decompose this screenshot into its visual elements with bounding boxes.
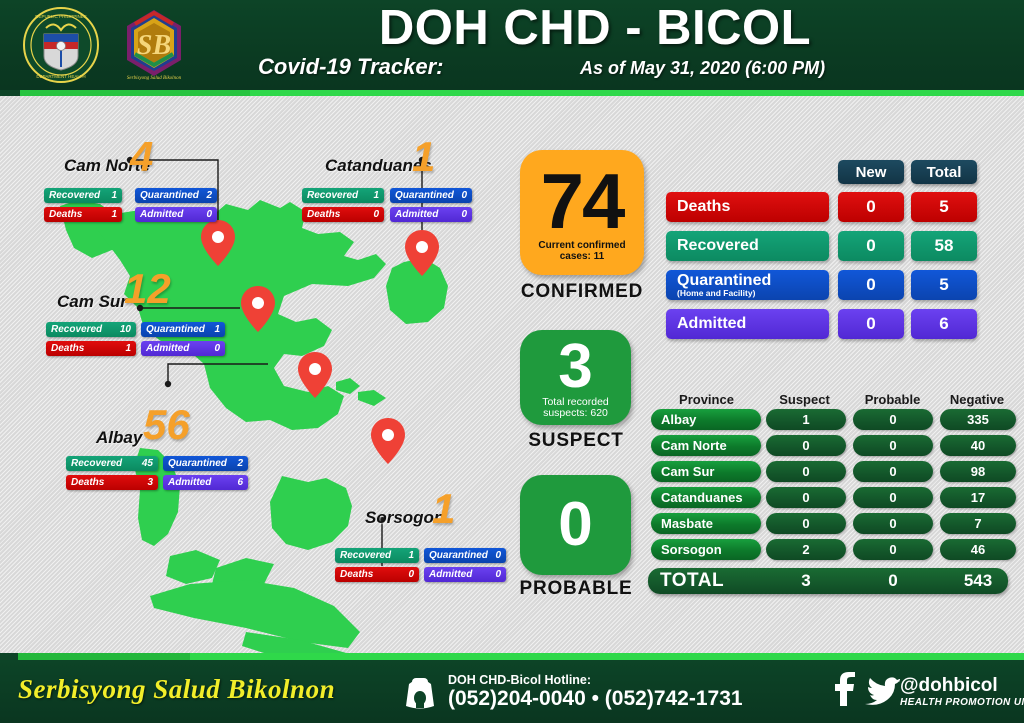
infographic-root: REPUBLIC PHILIPPINES DEPARTMENT HEALTH S… (0, 0, 1024, 723)
row-probable: 0 (853, 461, 933, 482)
suspect-caption: SUSPECT (501, 430, 651, 452)
row-probable: 0 (853, 539, 933, 560)
chip-recovered: Recovered1 (335, 548, 419, 563)
total-probable: 0 (853, 568, 933, 594)
footer-divider (0, 653, 1024, 660)
telephone-icon (403, 674, 437, 710)
probable-count: 0 (558, 495, 592, 555)
bicol-region-map: Cam Norte 4 Recovered1 Deaths1 Quarantin… (0, 96, 505, 653)
twitter-icon[interactable] (860, 676, 900, 706)
row-negative: 335 (940, 409, 1016, 430)
chip-recovered: Recovered1 (302, 188, 384, 203)
chip-admitted: Admitted0 (424, 567, 506, 582)
summary-total-admitted: 6 (911, 309, 977, 339)
row-province-name: Catanduanes (651, 487, 761, 508)
row-negative: 46 (940, 539, 1016, 560)
row-province-name: Cam Norte (651, 435, 761, 456)
header-province: Province (654, 392, 759, 407)
row-province-name: Cam Sur (651, 461, 761, 482)
summary-label-recovered: Recovered (666, 231, 829, 261)
row-negative: 17 (940, 487, 1016, 508)
row-probable: 0 (853, 513, 933, 534)
row-probable: 0 (853, 409, 933, 430)
summary-total-recovered: 58 (911, 231, 977, 261)
province-label: Cam Sur (57, 292, 127, 312)
page-title: DOH CHD - BICOL (255, 2, 935, 54)
summary-new-admitted: 0 (838, 309, 904, 339)
chip-quarantined: Quarantined1 (141, 322, 225, 337)
chip-deaths: Deaths0 (302, 207, 384, 222)
row-probable: 0 (853, 435, 933, 456)
total-suspect: 3 (766, 568, 846, 594)
chip-admitted: Admitted6 (163, 475, 248, 490)
footer-slogan: Serbisyong Salud Bikolnon (18, 674, 335, 705)
probable-caption: PROBABLE (501, 578, 651, 600)
chip-admitted: Admitted0 (141, 341, 225, 356)
hotline-label: DOH CHD-Bicol Hotline: (448, 673, 591, 687)
suspect-note: Total recorded suspects: 620 (542, 397, 609, 419)
social-handle-text[interactable]: @dohbicol (900, 675, 998, 697)
header-suspect: Suspect (762, 392, 847, 407)
as-of-date: As of May 31, 2020 (6:00 PM) (580, 58, 825, 79)
province-case-count: 1 (432, 488, 455, 530)
summary-new-deaths: 0 (838, 192, 904, 222)
confirmed-caption: CONFIRMED (507, 281, 657, 303)
total-negative: 543 (940, 568, 1016, 594)
chip-quarantined: Quarantined0 (424, 548, 506, 563)
chip-admitted: Admitted0 (390, 207, 472, 222)
ssb-seal-logo-icon: SB Serbisyong Salud Bikolnon (115, 6, 193, 84)
summary-label-admitted: Admitted (666, 309, 829, 339)
province-case-count: 12 (124, 268, 171, 310)
doh-seal-logo-icon: REPUBLIC PHILIPPINES DEPARTMENT HEALTH (22, 6, 100, 84)
social-handles: @dohbicol HEALTH PROMOTION UNIT (832, 672, 1012, 716)
row-probable: 0 (853, 487, 933, 508)
confirmed-note: Current confirmed cases: 11 (538, 240, 625, 262)
row-province-name: Masbate (651, 513, 761, 534)
row-suspect: 2 (766, 539, 846, 560)
table-row: Catanduanes 0 0 17 (648, 487, 1008, 513)
hotline-numbers[interactable]: (052)204-0040 • (052)742-1731 (448, 687, 743, 711)
row-negative: 98 (940, 461, 1016, 482)
province-table-header-row: Province Suspect Probable Negative (648, 392, 1008, 409)
chip-quarantined: Quarantined2 (163, 456, 248, 471)
chip-admitted: Admitted0 (135, 207, 217, 222)
chip-deaths: Deaths1 (44, 207, 122, 222)
row-province-name: Sorsogon (651, 539, 761, 560)
chip-quarantined: Quarantined0 (390, 188, 472, 203)
row-negative: 7 (940, 513, 1016, 534)
header-probable: Probable (850, 392, 935, 407)
summary-total-deaths: 5 (911, 192, 977, 222)
summary-label-quarantined: Quarantined (Home and Facility) (666, 270, 829, 300)
province-breakdown-table: Province Suspect Probable Negative Albay… (648, 392, 1008, 594)
row-suspect: 0 (766, 461, 846, 482)
province-case-count: 4 (130, 136, 153, 178)
facebook-icon[interactable] (832, 672, 856, 706)
table-row: Cam Sur 0 0 98 (648, 461, 1008, 487)
summary-label-deaths: Deaths (666, 192, 829, 222)
province-case-count: 56 (143, 404, 190, 446)
probable-cases-badge: 0 (520, 475, 631, 575)
header-negative: Negative (938, 392, 1016, 407)
province-label: Albay (96, 428, 142, 448)
footer-banner: Serbisyong Salud Bikolnon DOH CHD-Bicol … (0, 660, 1024, 723)
svg-text:Serbisyong Salud Bikolnon: Serbisyong Salud Bikolnon (127, 76, 182, 81)
svg-text:DEPARTMENT HEALTH: DEPARTMENT HEALTH (36, 74, 85, 79)
total-label: TOTAL (660, 568, 724, 594)
province-case-count: 1 (412, 136, 435, 178)
row-suspect: 0 (766, 435, 846, 456)
row-negative: 40 (940, 435, 1016, 456)
chip-recovered: Recovered1 (44, 188, 122, 203)
suspect-cases-badge: 3 Total recorded suspects: 620 (520, 330, 631, 425)
page-subtitle: Covid-19 Tracker: (258, 54, 443, 80)
confirmed-cases-badge: 74 Current confirmed cases: 11 (520, 150, 644, 275)
table-row: Albay 1 0 335 (648, 409, 1008, 435)
summary-total-quarantined: 5 (911, 270, 977, 300)
svg-text:SB: SB (137, 30, 171, 61)
svg-text:REPUBLIC PHILIPPINES: REPUBLIC PHILIPPINES (35, 14, 87, 19)
row-suspect: 0 (766, 487, 846, 508)
table-row: Sorsogon 2 0 46 (648, 539, 1008, 565)
summary-new-recovered: 0 (838, 231, 904, 261)
column-header-new: New (838, 160, 904, 184)
table-total-row: TOTAL 3 0 543 (648, 568, 1008, 594)
row-suspect: 1 (766, 409, 846, 430)
chip-deaths: Deaths1 (46, 341, 136, 356)
header-banner: REPUBLIC PHILIPPINES DEPARTMENT HEALTH S… (0, 0, 1024, 90)
health-promotion-unit-label: HEALTH PROMOTION UNIT (900, 697, 1024, 708)
table-row: Cam Norte 0 0 40 (648, 435, 1008, 461)
suspect-count: 3 (558, 337, 592, 397)
row-suspect: 0 (766, 513, 846, 534)
chip-deaths: Deaths0 (335, 567, 419, 582)
summary-new-quarantined: 0 (838, 270, 904, 300)
column-header-total: Total (911, 160, 977, 184)
chip-quarantined: Quarantined2 (135, 188, 217, 203)
table-row: Masbate 0 0 7 (648, 513, 1008, 539)
row-province-name: Albay (651, 409, 761, 430)
chip-deaths: Deaths3 (66, 475, 158, 490)
chip-recovered: Recovered10 (46, 322, 136, 337)
confirmed-count: 74 (541, 163, 624, 239)
chip-recovered: Recovered45 (66, 456, 158, 471)
